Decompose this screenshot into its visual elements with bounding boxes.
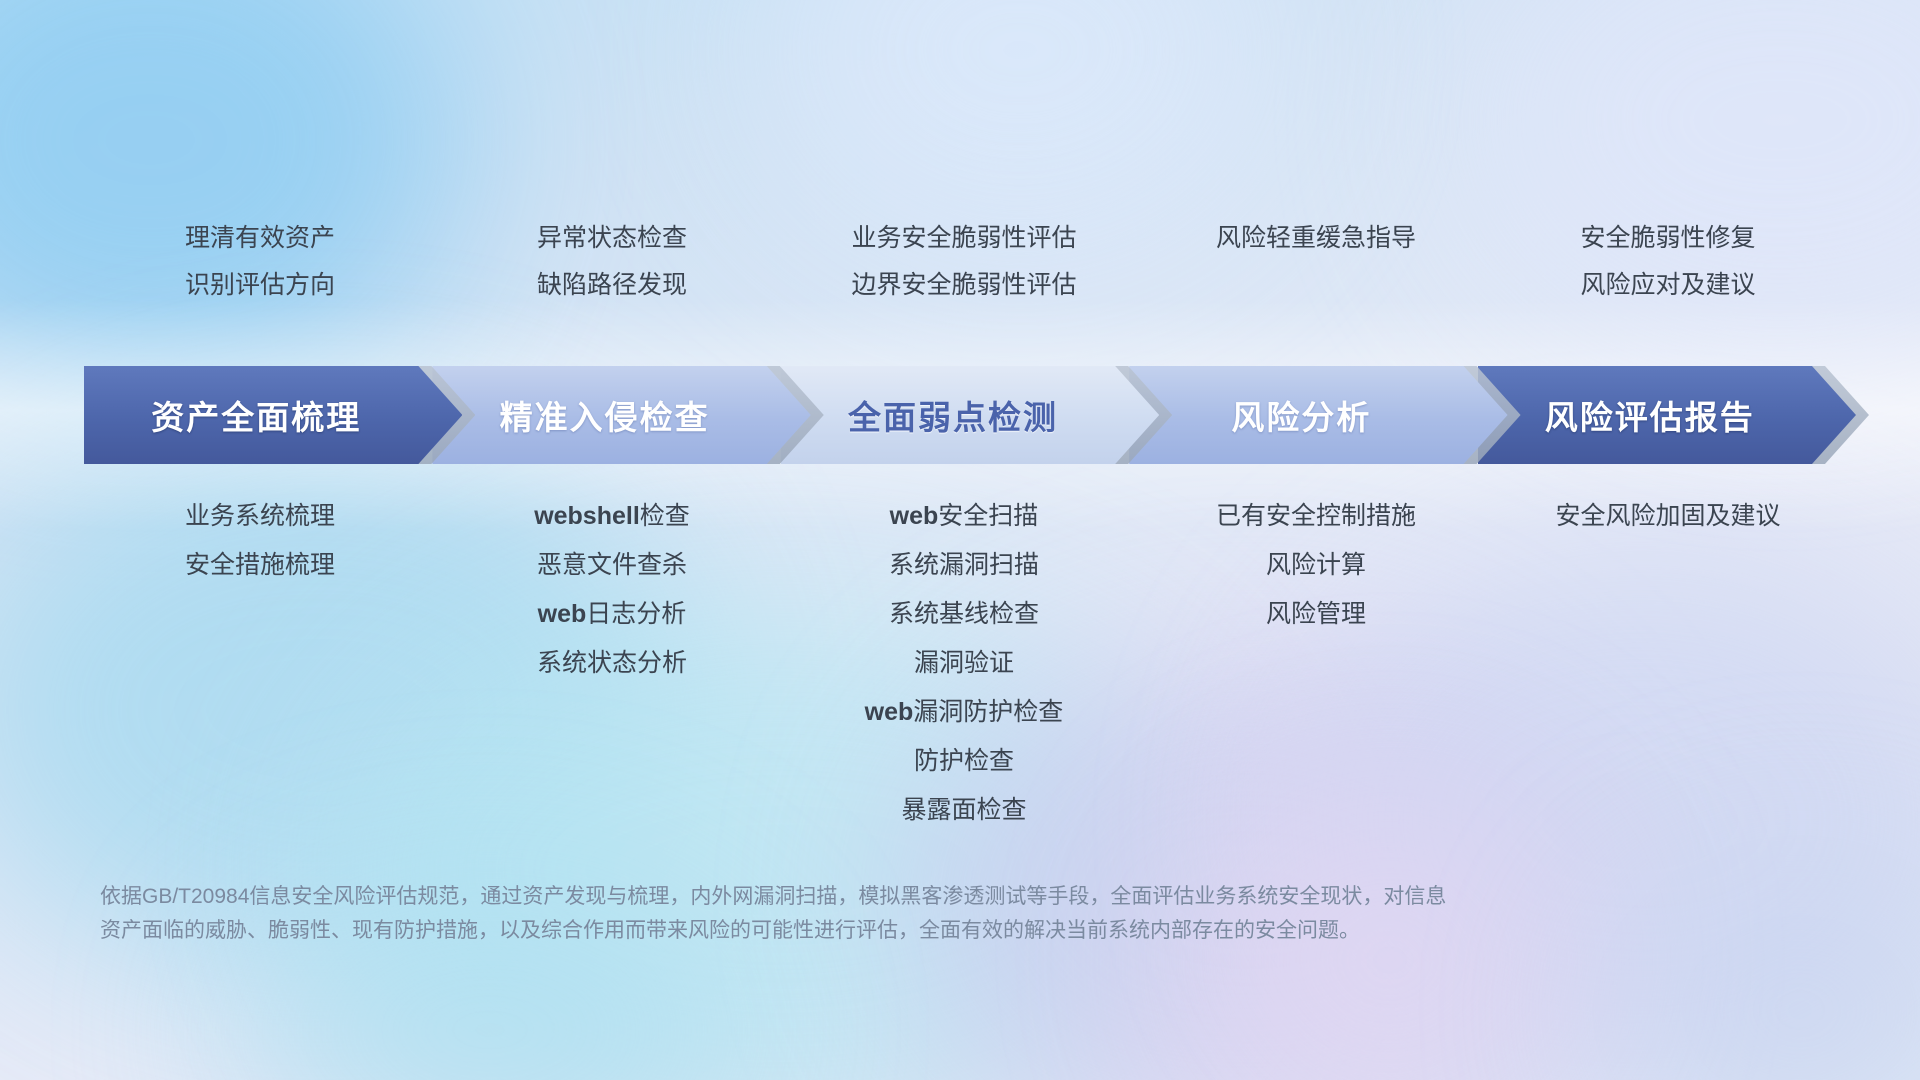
chevron-label: 风险分析 [1231, 391, 1371, 439]
footer-line-2: 资产面临的威胁、脆弱性、现有防护措施，以及综合作用而带来风险的可能性进行评估，全… [100, 914, 1660, 948]
chevron-stage-1[interactable]: 资产全面梳理 [84, 366, 462, 464]
bottom-bullet-item: 暴露面检查 [901, 798, 1026, 823]
top-bullet-column-4: 风险轻重缓急指导 [1140, 226, 1492, 298]
chevron-label: 资产全面梳理 [151, 391, 361, 439]
bottom-bullet-item: 风险计算 [1266, 553, 1366, 578]
bottom-bullet-column-4: 已有安全控制措施风险计算风险管理 [1140, 504, 1492, 823]
footer-line-1: 依据GB/T20984信息安全风险评估规范，通过资产发现与梳理，内外网漏洞扫描，… [100, 880, 1660, 914]
footer-description: 依据GB/T20984信息安全风险评估规范，通过资产发现与梳理，内外网漏洞扫描，… [100, 880, 1660, 948]
chevron-stage-2[interactable]: 精准入侵检查 [432, 366, 810, 464]
chevron-label: 风险评估报告 [1545, 391, 1755, 439]
bottom-bullet-item: web漏洞防护检查 [865, 700, 1064, 725]
top-bullet-item: 理清有效资产 [185, 226, 335, 251]
bottom-bullet-item: web日志分析 [538, 602, 687, 627]
top-bullet-item: 异常状态检查 [537, 226, 687, 251]
top-bullet-column-5: 安全脆弱性修复风险应对及建议 [1492, 226, 1844, 298]
top-bullet-item: 风险轻重缓急指导 [1216, 226, 1416, 251]
top-bullet-column-3: 业务安全脆弱性评估边界安全脆弱性评估 [788, 226, 1140, 298]
chevron-stage-4[interactable]: 风险分析 [1129, 366, 1507, 464]
bottom-bullet-item: 已有安全控制措施 [1216, 504, 1416, 529]
top-bullet-column-1: 理清有效资产识别评估方向 [84, 226, 436, 298]
bottom-bullet-item: 风险管理 [1266, 602, 1366, 627]
bottom-bullet-item: web安全扫描 [890, 504, 1039, 529]
bottom-bullet-item: 漏洞验证 [914, 651, 1014, 676]
top-bullet-item: 风险应对及建议 [1580, 273, 1755, 298]
top-bullet-item: 识别评估方向 [185, 273, 335, 298]
top-bullet-item: 边界安全脆弱性评估 [851, 273, 1076, 298]
top-bullet-item: 安全脆弱性修复 [1580, 226, 1755, 251]
bottom-bullet-item: webshell检查 [534, 504, 690, 529]
top-bullet-item: 业务安全脆弱性评估 [851, 226, 1076, 251]
bottom-bullet-column-1: 业务系统梳理安全措施梳理 [84, 504, 436, 823]
bottom-bullet-column-5: 安全风险加固及建议 [1492, 504, 1844, 823]
process-diagram: 理清有效资产识别评估方向异常状态检查缺陷路径发现业务安全脆弱性评估边界安全脆弱性… [0, 0, 1920, 1080]
bottom-bullet-item: 系统基线检查 [889, 602, 1039, 627]
bottom-bullet-item: 业务系统梳理 [185, 504, 335, 529]
top-bullet-item: 缺陷路径发现 [537, 273, 687, 298]
bottom-bullet-rows: 业务系统梳理安全措施梳理webshell检查恶意文件查杀web日志分析系统状态分… [84, 504, 1844, 823]
top-bullet-column-2: 异常状态检查缺陷路径发现 [436, 226, 788, 298]
bottom-bullet-item: 系统漏洞扫描 [889, 553, 1039, 578]
bottom-bullet-item: 安全风险加固及建议 [1555, 504, 1780, 529]
chevron-stage-5[interactable]: 风险评估报告 [1478, 366, 1856, 464]
bottom-bullet-item: 安全措施梳理 [185, 553, 335, 578]
bottom-bullet-item: 恶意文件查杀 [537, 553, 687, 578]
bottom-bullet-item: 系统状态分析 [537, 651, 687, 676]
chevron-band: 资产全面梳理精准入侵检查全面弱点检测风险分析风险评估报告 [84, 366, 1856, 464]
bottom-bullet-column-2: webshell检查恶意文件查杀web日志分析系统状态分析 [436, 504, 788, 823]
top-bullet-rows: 理清有效资产识别评估方向异常状态检查缺陷路径发现业务安全脆弱性评估边界安全脆弱性… [84, 226, 1844, 298]
chevron-stage-3[interactable]: 全面弱点检测 [781, 366, 1159, 464]
bottom-bullet-item: 防护检查 [914, 749, 1014, 774]
bottom-bullet-column-3: web安全扫描系统漏洞扫描系统基线检查漏洞验证web漏洞防护检查防护检查暴露面检… [788, 504, 1140, 823]
chevron-label: 精准入侵检查 [500, 391, 710, 439]
chevron-label: 全面弱点检测 [848, 391, 1058, 439]
